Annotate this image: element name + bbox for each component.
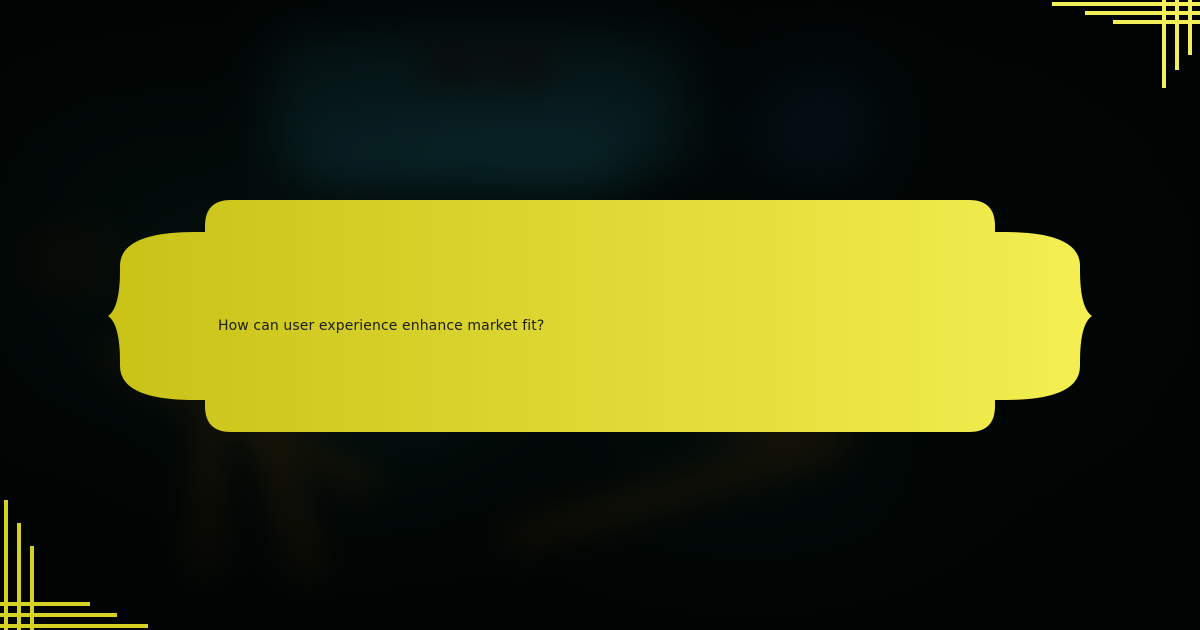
poster-canvas: How can user experience enhance market f… — [0, 0, 1200, 630]
quote-text: How can user experience enhance market f… — [218, 306, 1018, 346]
